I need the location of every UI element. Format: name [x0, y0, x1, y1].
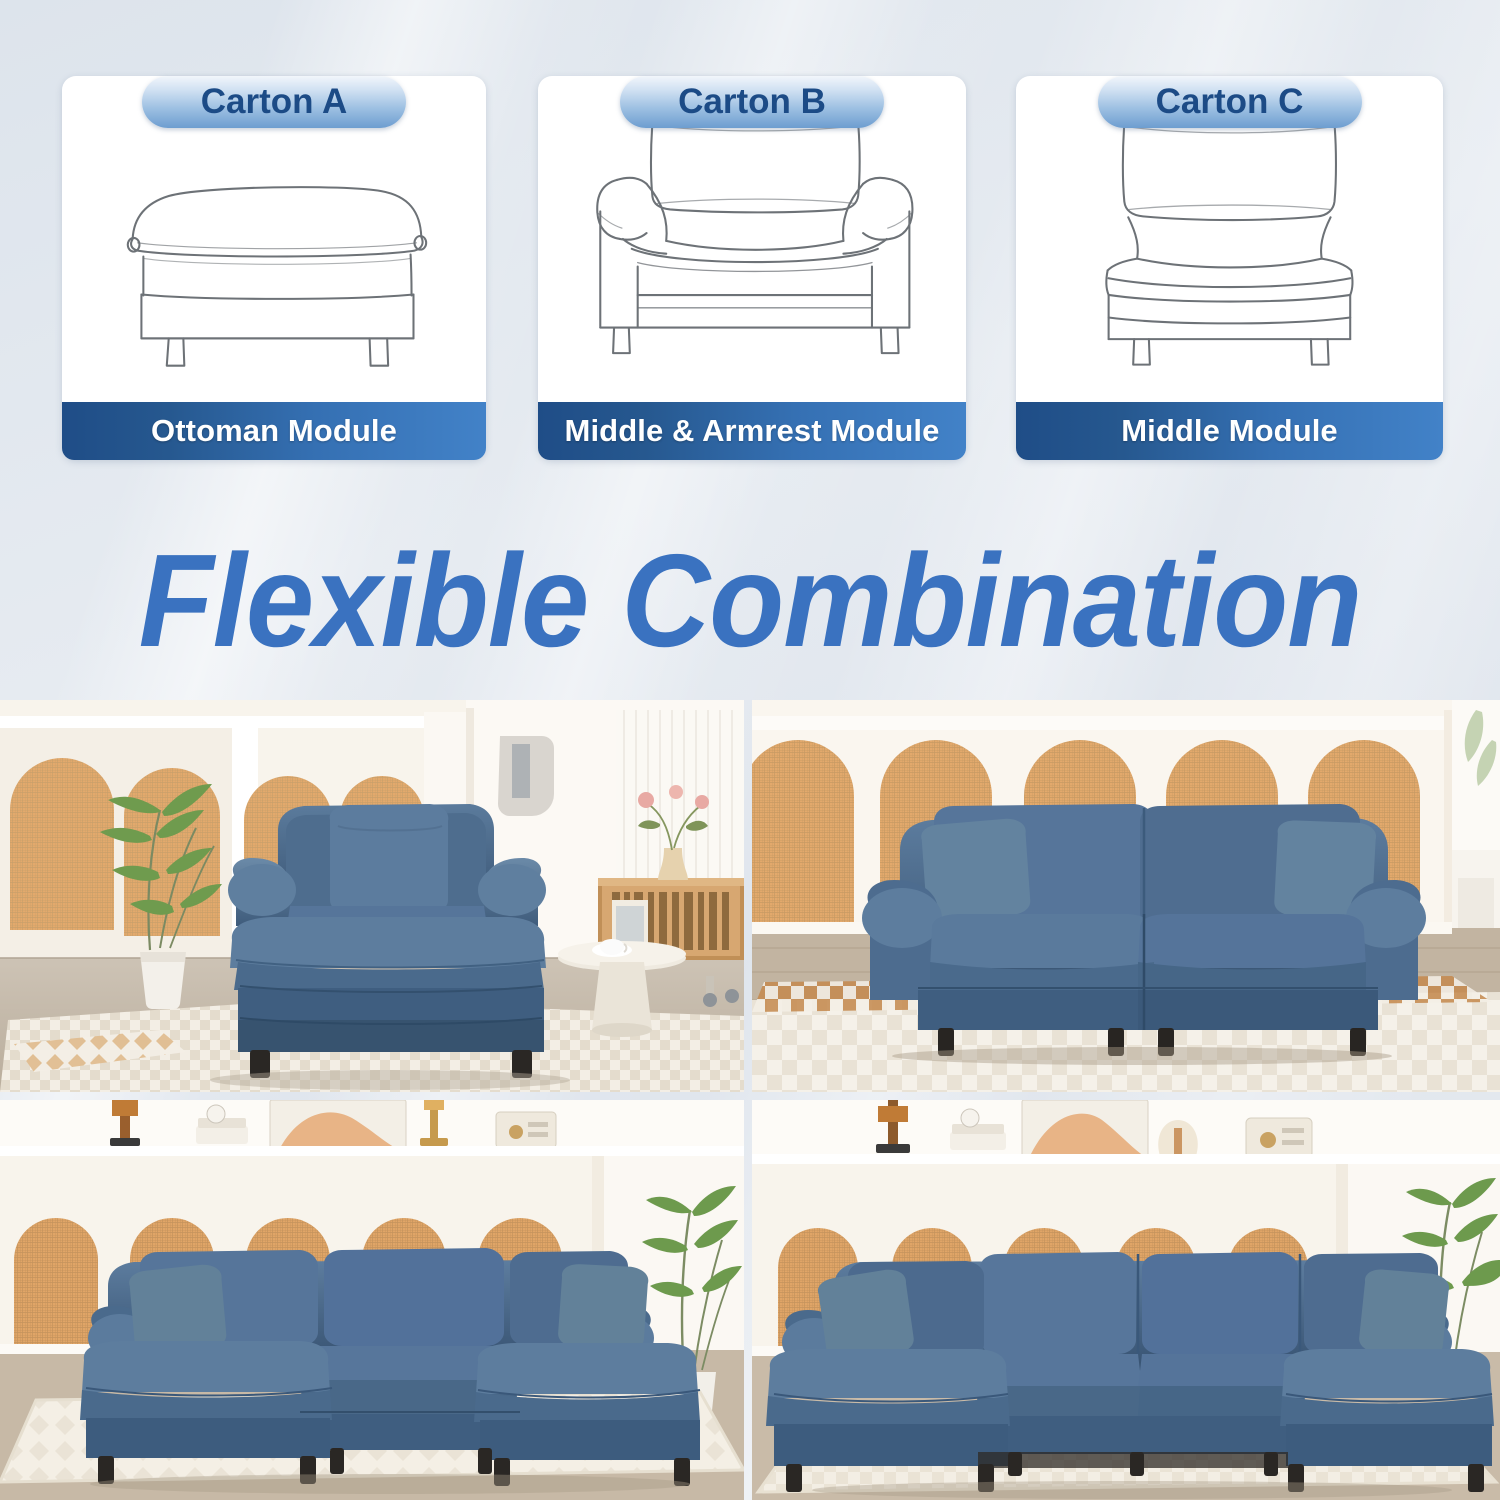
carton-card-c-label: Middle Module [1016, 402, 1443, 460]
photo-l-sectional [0, 1100, 744, 1500]
page-title: Flexible Combination [53, 520, 1448, 680]
photo-armchair-ottoman [0, 700, 744, 1092]
carton-card-a[interactable]: Ottoman Module Carton A [62, 76, 486, 460]
carton-card-a-body: Ottoman Module [62, 76, 486, 460]
ottoman-sketch-icon [62, 86, 486, 386]
carton-card-b-label: Middle & Armrest Module [538, 402, 966, 460]
carton-card-c[interactable]: Middle Module Carton C [1016, 76, 1443, 460]
carton-card-a-badge: Carton A [142, 76, 406, 128]
photo-loveseat [752, 700, 1500, 1092]
carton-card-c-badge: Carton C [1098, 76, 1362, 128]
carton-card-b-badge: Carton B [620, 76, 884, 128]
carton-cards-row: Ottoman Module Carton A [0, 0, 1500, 470]
photo-u-sectional [752, 1100, 1500, 1500]
photo-grid [0, 700, 1500, 1500]
carton-card-c-body: Middle Module [1016, 76, 1443, 460]
carton-card-b[interactable]: Middle & Armrest Module Carton B [538, 76, 966, 460]
middle-armrest-sketch-icon [538, 86, 966, 386]
infographic-page: Ottoman Module Carton A [0, 0, 1500, 1500]
middle-sketch-icon [1016, 86, 1443, 386]
carton-card-b-body: Middle & Armrest Module [538, 76, 966, 460]
carton-card-a-label: Ottoman Module [62, 402, 486, 460]
